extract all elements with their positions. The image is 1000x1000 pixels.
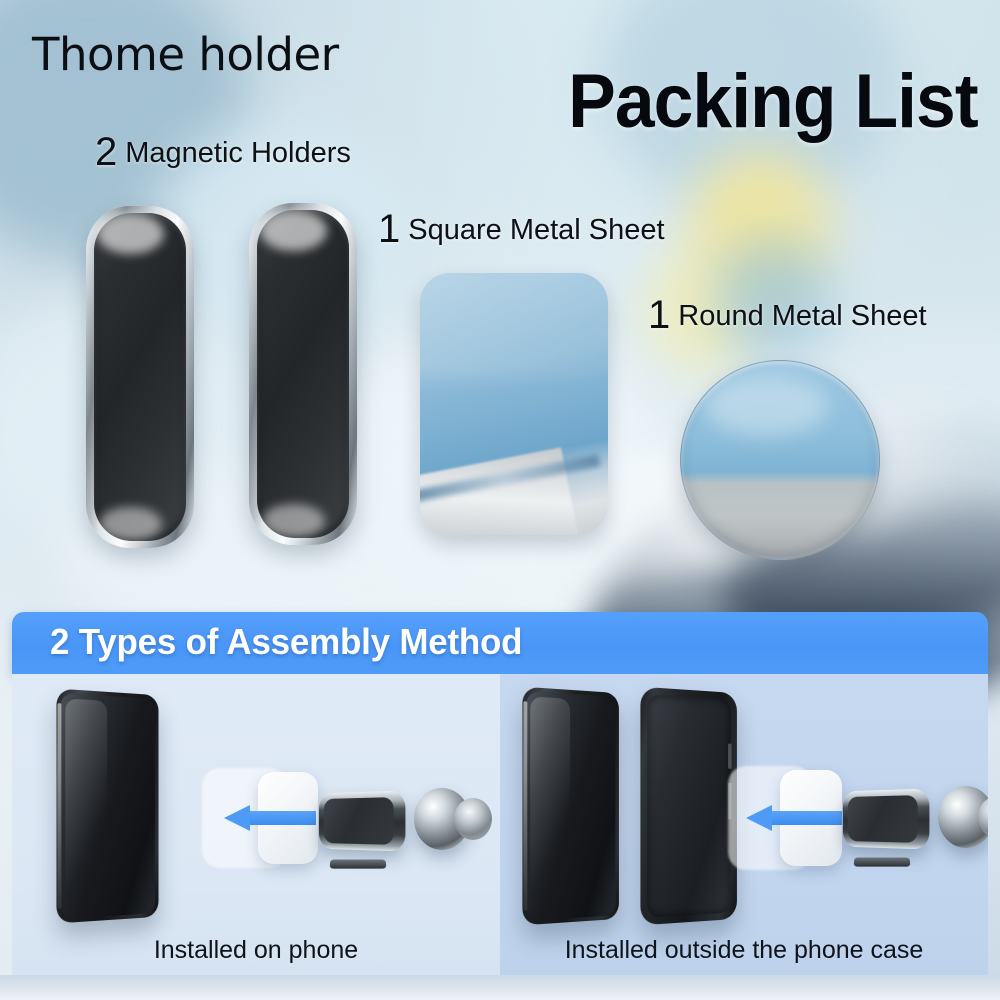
item-quantity: 1 <box>378 207 400 251</box>
phone-illustration <box>56 689 158 924</box>
assembly-method-2: Installed outside the phone case <box>500 674 988 975</box>
square-metal-sheet-icon <box>420 273 608 535</box>
item-label-magnetic-holders: 2Magnetic Holders <box>95 130 351 175</box>
mount-vent-clip <box>854 857 911 866</box>
direction-arrow-icon <box>746 805 842 831</box>
phone-case-illustration <box>640 687 737 926</box>
assembly-method-banner: 2 Types of Assembly Method <box>12 612 988 674</box>
assembly-panels: Installed on phone <box>12 674 988 975</box>
phone-gloss <box>531 697 571 916</box>
item-quantity: 1 <box>648 293 670 337</box>
arrow-shaft <box>772 811 842 825</box>
assembly-method-banner-text: 2 Types of Assembly Method <box>50 621 522 663</box>
item-quantity: 2 <box>95 130 117 174</box>
car-mount-illustration <box>836 782 986 862</box>
car-mount-illustration <box>312 784 462 864</box>
mount-vent-clip <box>330 859 387 868</box>
mount-face <box>324 797 394 845</box>
round-metal-sheet-icon <box>680 360 880 560</box>
magnetic-holder-icon <box>86 206 194 548</box>
case-button <box>728 743 732 769</box>
holder-face <box>257 210 349 538</box>
assembly-caption-2: Installed outside the phone case <box>500 936 988 965</box>
disc-highlight <box>705 377 828 436</box>
phone-edge-highlight <box>523 701 527 911</box>
mount-body <box>843 788 930 849</box>
item-name: Square Metal Sheet <box>408 214 664 246</box>
arrow-shaft <box>250 811 316 825</box>
assembly-caption-1: Installed on phone <box>12 936 500 965</box>
holder-highlight <box>99 507 162 541</box>
holder-highlight <box>97 213 164 254</box>
sheet-sheen <box>420 273 608 378</box>
phone-case-inner <box>647 694 730 917</box>
item-label-square-metal-sheet: 1Square Metal Sheet <box>378 207 665 252</box>
item-name: Magnetic Holders <box>125 137 351 169</box>
item-name: Round Metal Sheet <box>678 300 926 332</box>
brand-name: Thome holder <box>32 28 339 81</box>
mount-body <box>319 790 406 851</box>
magnetic-holder-icon <box>249 203 357 545</box>
arrow-head <box>224 805 250 831</box>
footer-strip <box>0 975 1000 1000</box>
page-title: Packing List <box>568 58 978 145</box>
direction-arrow-icon <box>224 805 316 831</box>
holder-highlight <box>260 210 327 251</box>
phone-edge-highlight <box>57 703 61 910</box>
holder-highlight <box>262 504 325 538</box>
holder-face <box>94 213 186 541</box>
infographic-page: Thome holder Packing List 2Magnetic Hold… <box>0 0 1000 1000</box>
mount-face <box>848 795 918 843</box>
mount-knob-back <box>454 798 492 840</box>
phone-illustration <box>522 687 619 926</box>
phone-gloss <box>65 698 107 913</box>
item-label-round-metal-sheet: 1Round Metal Sheet <box>648 293 927 338</box>
assembly-method-1: Installed on phone <box>12 674 500 975</box>
arrow-head <box>746 805 772 831</box>
